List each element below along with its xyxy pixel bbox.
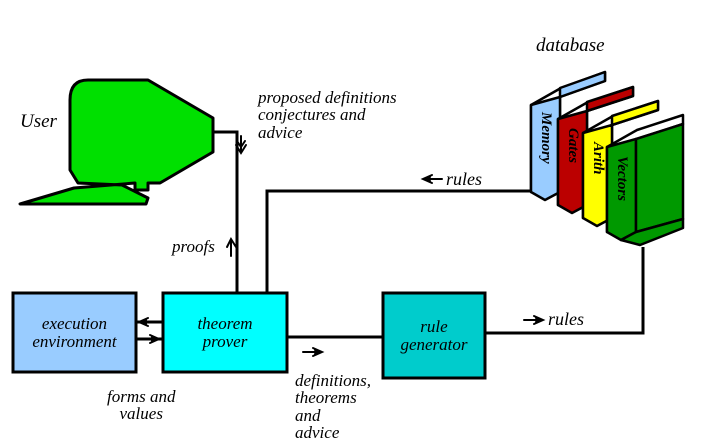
database-label: database (536, 36, 605, 55)
label-forms-and-values: forms and values (107, 388, 175, 423)
arrowhead-right-definitions (303, 348, 322, 356)
label-execution-environment: execution environment (13, 293, 136, 372)
ee-line-1: execution (42, 315, 107, 333)
label-theorem-prover: theorem prover (163, 293, 287, 372)
book-spine-vectors: Vectors (613, 156, 630, 201)
ee-line-2: environment (32, 333, 116, 351)
label-rules-out: rules (548, 310, 584, 328)
arrowhead-right-rules-out (524, 316, 543, 324)
arrowhead-right-prover (140, 335, 159, 343)
label-rules-in: rules (446, 170, 482, 188)
rg-line-1: rule (420, 318, 447, 336)
user-label: User (20, 112, 57, 131)
book-spine-memory: Memory (537, 112, 554, 164)
arrowhead-left-ee (139, 318, 158, 326)
diagram-canvas: database User proposed definitions conje… (0, 0, 711, 445)
tp-line-1: theorem (197, 315, 252, 333)
edge-books-to-prover (267, 191, 531, 293)
tp-line-2: prover (203, 333, 248, 351)
book-spine-arith: Arith (589, 142, 606, 175)
edge-user-to-prover (213, 132, 237, 293)
arrowhead-up-proofs (227, 239, 236, 256)
arrowhead-left-rules-in (423, 175, 442, 183)
label-proposed-definitions: proposed definitions conjectures and adv… (258, 89, 397, 141)
label-definitions-theorems-advice: definitions, theorems and advice (295, 372, 371, 441)
user-shape[interactable] (20, 80, 213, 204)
label-proofs: proofs (172, 238, 215, 255)
rg-line-2: generator (400, 336, 467, 354)
label-rule-generator: rule generator (383, 293, 485, 378)
book-spine-gates: Gates (564, 128, 581, 163)
